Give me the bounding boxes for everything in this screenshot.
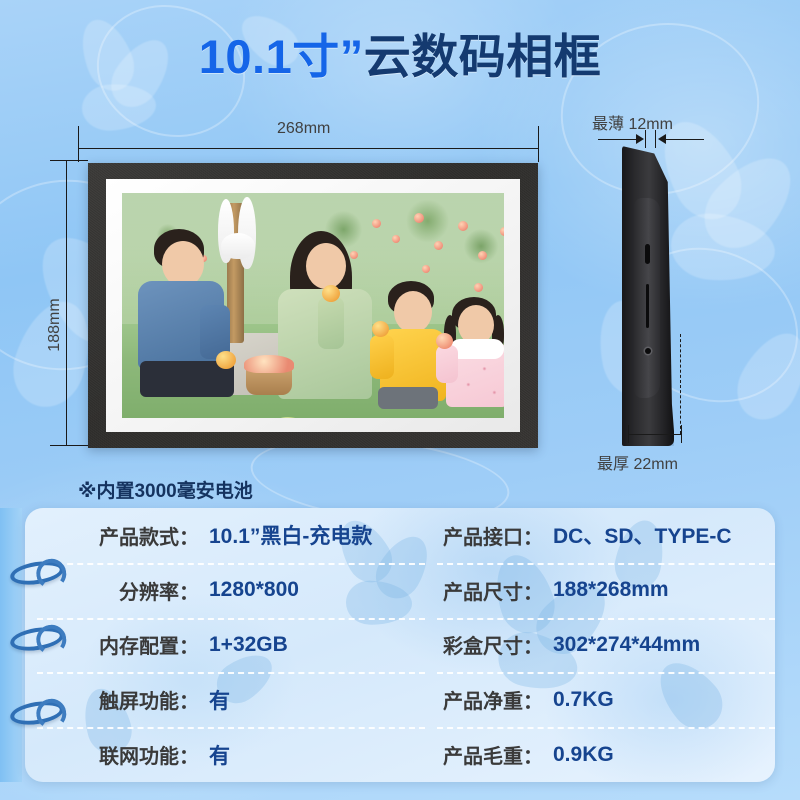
side-profile-back-panel xyxy=(634,198,660,398)
spec-cell: 彩盒尺寸： 302*274*44mm xyxy=(425,618,775,673)
page-title: 10.1寸”云数码相框 xyxy=(0,18,800,87)
thickest-tick-left xyxy=(628,425,629,443)
thinnest-arrowhead-left xyxy=(636,134,644,144)
spec-label: 联网功能： xyxy=(77,740,199,769)
spec-label: 彩盒尺寸： xyxy=(435,630,543,659)
photo-apple xyxy=(350,251,358,259)
spec-cell: 分辨率： 1280*800 xyxy=(25,563,425,618)
spec-value: 0.9KG xyxy=(553,743,614,767)
usb-c-port-icon xyxy=(645,244,650,264)
height-dimension-tick-top xyxy=(50,160,88,161)
row-separator xyxy=(437,563,775,565)
spec-label: 内存配置： xyxy=(77,630,199,659)
photo-frame-front-view xyxy=(88,163,538,448)
photo-apple xyxy=(474,283,483,292)
height-dimension-tick-bottom xyxy=(50,445,88,446)
spec-label: 产品接口： xyxy=(435,521,543,550)
spec-value: 188*268mm xyxy=(553,578,669,602)
width-dimension-label: 268mm xyxy=(277,120,330,138)
spec-label: 产品款式： xyxy=(77,521,199,550)
spec-value: 0.7KG xyxy=(553,688,614,712)
spec-value: DC、SD、TYPE-C xyxy=(553,520,732,550)
frame-display-screen xyxy=(122,193,504,418)
spec-cell: 触屏功能： 有 xyxy=(25,672,425,727)
photo-apple xyxy=(500,227,504,236)
thickest-dimension-label: 最厚 22mm xyxy=(597,450,678,474)
spec-cell: 产品款式： 10.1”黑白-充电款 xyxy=(25,508,425,563)
row-separator xyxy=(37,618,425,620)
spec-value: 1280*800 xyxy=(209,578,299,602)
thinnest-arrowhead-right xyxy=(658,134,666,144)
spec-value: 有 xyxy=(209,685,230,715)
spec-value: 10.1”黑白-充电款 xyxy=(209,520,372,550)
photo-apple xyxy=(392,235,400,243)
row-separator xyxy=(37,727,425,729)
thinnest-dimension-label: 最薄 12mm xyxy=(592,110,673,134)
spec-table-grid: 产品款式： 10.1”黑白-充电款 产品接口： DC、SD、TYPE-C 分辨率… xyxy=(25,508,775,782)
height-dimension-line xyxy=(66,160,67,445)
spec-cell: 产品净重： 0.7KG xyxy=(425,672,775,727)
spec-label: 产品毛重： xyxy=(435,740,543,769)
spec-cell: 产品毛重： 0.9KG xyxy=(425,727,775,782)
product-infographic-page: 10.1寸”云数码相框 268mm 188mm xyxy=(0,0,800,800)
thickest-tick-right xyxy=(681,425,682,443)
photo-apple xyxy=(478,251,487,260)
row-separator xyxy=(37,563,425,565)
battery-note: ※内置3000毫安电池 xyxy=(78,476,253,503)
photo-apple xyxy=(372,219,381,228)
width-dimension-line xyxy=(78,148,538,149)
dc-jack-icon xyxy=(645,348,651,354)
thickest-reference-dashed-line xyxy=(680,334,681,434)
sd-card-slot-icon xyxy=(646,284,649,328)
row-separator xyxy=(437,672,775,674)
spec-label: 触屏功能： xyxy=(77,685,199,714)
spec-label: 产品尺寸： xyxy=(435,576,543,605)
row-separator xyxy=(437,618,775,620)
spec-cell: 内存配置： 1+32GB xyxy=(25,618,425,673)
page-title-name: 云数码相框 xyxy=(364,30,602,83)
photo-apple xyxy=(414,213,424,223)
spec-cell: 产品接口： DC、SD、TYPE-C xyxy=(425,508,775,563)
spec-value: 302*274*44mm xyxy=(553,633,700,657)
frame-white-mat xyxy=(106,179,520,432)
photo-basket-fruit xyxy=(244,355,294,373)
thickest-dimension-line xyxy=(628,434,682,435)
spec-value: 1+32GB xyxy=(209,633,288,657)
row-separator xyxy=(437,727,775,729)
photo-apple xyxy=(458,221,468,231)
thinnest-arrow-line-right xyxy=(660,139,704,140)
photo-apple xyxy=(422,265,430,273)
spec-label: 分辨率： xyxy=(77,576,199,605)
width-dimension-tick-left xyxy=(78,126,79,162)
photo-white-drape xyxy=(221,233,255,259)
row-separator xyxy=(37,672,425,674)
spec-value: 有 xyxy=(209,740,230,770)
spec-table-card: 产品款式： 10.1”黑白-充电款 产品接口： DC、SD、TYPE-C 分辨率… xyxy=(25,508,775,782)
spec-cell: 联网功能： 有 xyxy=(25,727,425,782)
photo-apple xyxy=(434,241,443,250)
height-dimension-label: 188mm xyxy=(46,295,64,355)
page-title-size: 10.1寸” xyxy=(199,30,364,83)
width-dimension-tick-right xyxy=(538,126,539,162)
spec-label: 产品净重： xyxy=(435,685,543,714)
frame-side-profile-view xyxy=(622,146,674,446)
spec-cell: 产品尺寸： 188*268mm xyxy=(425,563,775,618)
